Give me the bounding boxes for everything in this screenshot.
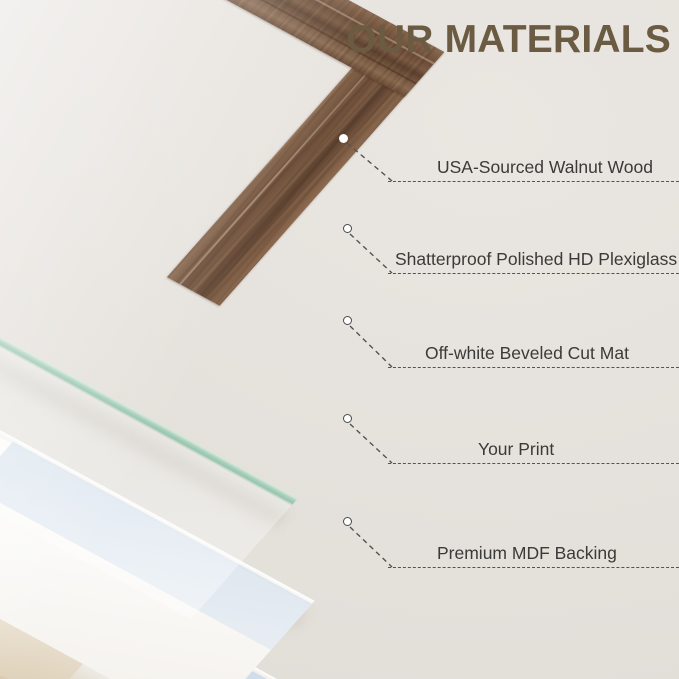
exploded-frame-illustration [0, 0, 679, 679]
page-title: OUR MATERIALS [346, 18, 671, 62]
walnut-frame-corner [0, 0, 514, 459]
infographic-canvas: OUR MATERIALS USA-Sourced Walnut Wood Sh… [0, 0, 679, 679]
